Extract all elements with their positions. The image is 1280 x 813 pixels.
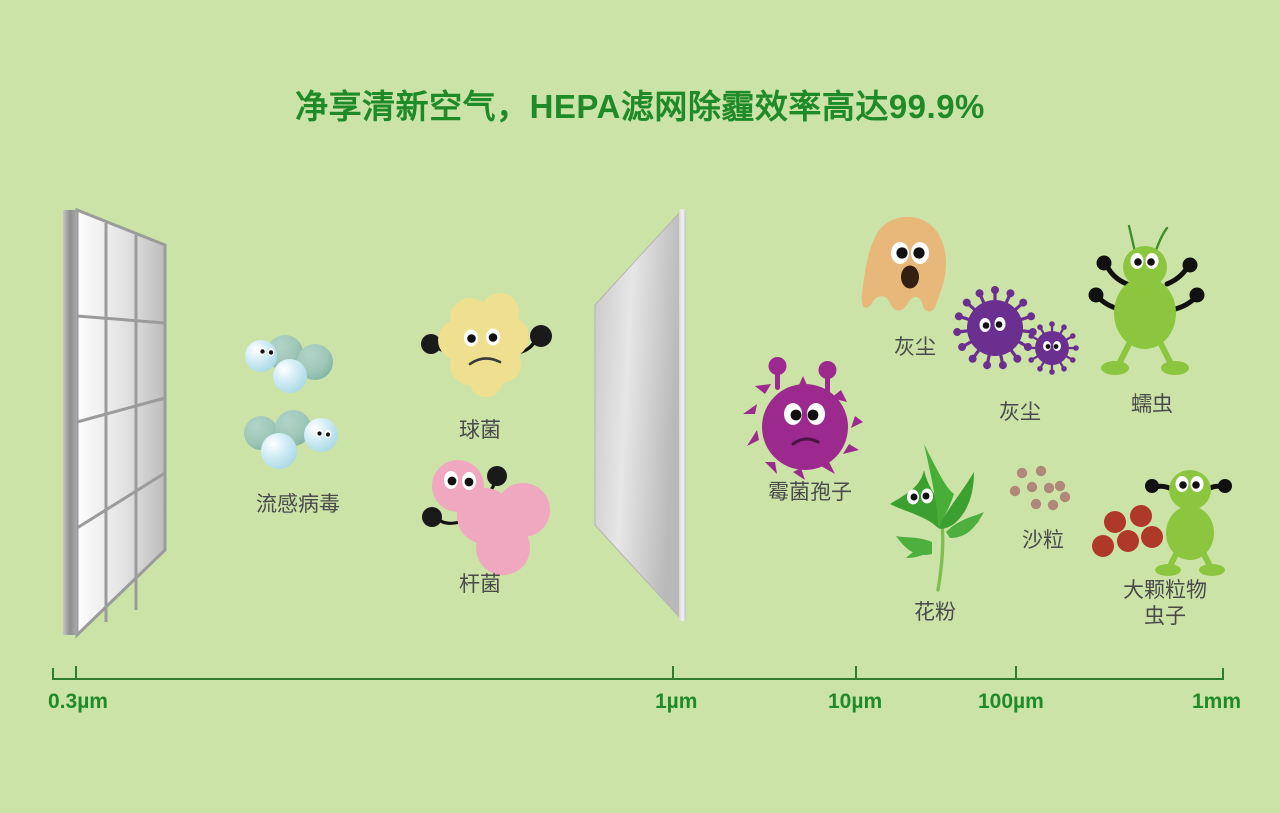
axis-label-0: 0.3µm (48, 690, 108, 714)
large-particles-label-line2: 虫子 (1100, 604, 1230, 630)
plain-filter-panel (595, 195, 725, 635)
dust-spiky-particles (950, 283, 1080, 378)
axis-tick-3 (1015, 666, 1017, 680)
dust-lower-label: 灰尘 (985, 400, 1055, 426)
axis-tick-1 (672, 666, 674, 680)
mold-spore-particle (743, 352, 868, 477)
coccus-particle (408, 282, 568, 407)
mite-label: 蠕虫 (1112, 392, 1192, 418)
large-particles-label-line1: 大颗粒物 (1100, 578, 1230, 604)
dust-blob-particle (858, 215, 958, 320)
flu-virus-label: 流感病毒 (233, 492, 363, 518)
size-axis-line (52, 678, 1224, 680)
mite-particle (1085, 218, 1205, 378)
infographic-canvas: 净享清新空气，HEPA滤网除霾效率高达99.9% (0, 0, 1280, 813)
dust-upper-label: 灰尘 (880, 335, 950, 361)
large-particles-group (1100, 443, 1235, 578)
bacillus-particle (415, 452, 565, 577)
axis-tick-0 (75, 666, 77, 680)
axis-cap-right (1222, 668, 1224, 680)
axis-cap-left (52, 668, 54, 680)
axis-label-2: 10µm (828, 690, 882, 714)
large-dust-dots (1092, 505, 1163, 557)
axis-label-3: 100µm (978, 690, 1044, 714)
axis-tick-2 (855, 666, 857, 680)
sand-label: 沙粒 (1003, 528, 1083, 554)
mold-spore-label: 霉菌孢子 (745, 480, 875, 506)
pollen-particle (880, 432, 1005, 597)
flu-virus-particle (243, 325, 363, 460)
page-title: 净享清新空气，HEPA滤网除霾效率高达99.9% (0, 80, 1280, 128)
coccus-label: 球菌 (420, 418, 540, 444)
axis-label-1: 1µm (655, 690, 697, 714)
axis-label-4: 1mm (1192, 690, 1241, 714)
pollen-label: 花粉 (895, 600, 975, 626)
bacillus-label: 杆菌 (420, 572, 540, 598)
bug-figure (1145, 470, 1232, 576)
sand-particles (1003, 463, 1083, 525)
